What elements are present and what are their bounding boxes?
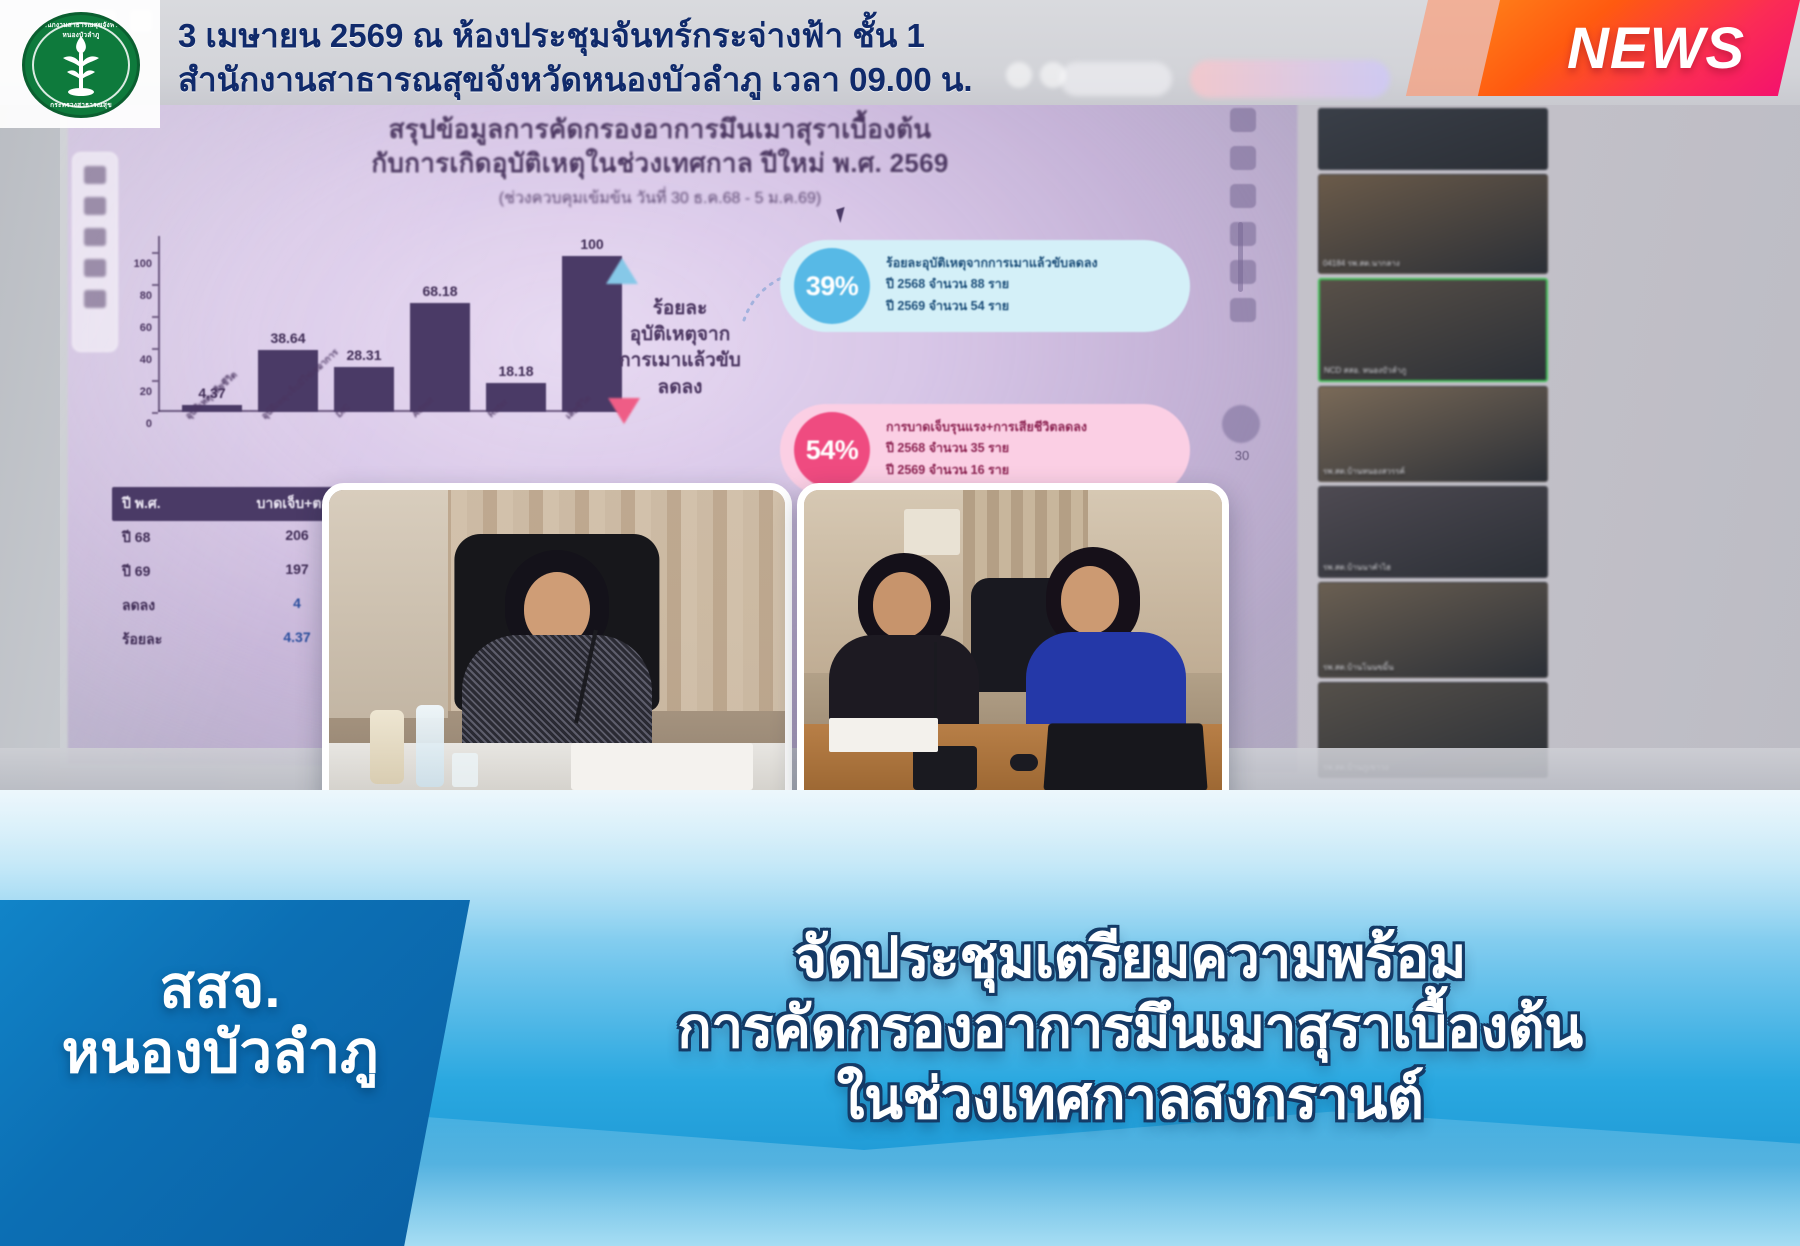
table-cell-label: ปี 69 [122, 561, 242, 583]
headline-line3: ในช่วงเทศกาลสงกรานต์ [470, 1065, 1790, 1133]
wall [329, 490, 448, 718]
person2-face [1061, 566, 1119, 634]
chart-y-tick-label: 0 [146, 418, 152, 430]
video-conference-tile-grid[interactable]: 04184 รพ.สต.นากลางNCD สสอ. หนองบัวลำภูรพ… [1318, 108, 1548, 758]
chart-y-axis [158, 236, 160, 412]
callout-percent-39: 39% [794, 248, 870, 324]
grid-icon[interactable] [1230, 260, 1256, 284]
chart-plot-area: 4.3738.6428.3168.1818.18100 [174, 236, 630, 412]
organization-name-line2: หนองบัวลำภู [0, 1021, 440, 1086]
arrow-up-blue-icon [606, 258, 638, 284]
slide-title-line3: (ช่วงควบคุมเข้มข้น วันที่ 30 ธ.ค.68 - 5 … [300, 186, 1020, 211]
headline: จัดประชุมเตรียมความพร้อม การคัดกรองอาการ… [470, 924, 1790, 1133]
organization-name-line1: สสจ. [0, 956, 440, 1021]
chart-bar-value-label: 100 [580, 236, 603, 252]
video-tile-caption: รพ.สต.บ้านนาคำไฮ [1323, 561, 1543, 574]
chart-y-tick-mark [152, 380, 158, 382]
video-tile-caption: NCD สสอ. หนองบัวลำภู [1324, 364, 1542, 377]
zoom-control-icon[interactable] [1222, 405, 1260, 443]
news-badge-label: NEWS [1536, 10, 1776, 86]
callout-row1-1: ปี 2568 จำนวน 88 ราย [886, 275, 1098, 294]
computer-mouse [1010, 754, 1038, 771]
photo-left-scene [329, 490, 785, 806]
caduceus-icon [53, 32, 109, 98]
callout-accidents-drunk-driving: 39% ร้อยละอุบัติเหตุจากการเมาแล้วขับลดลง… [780, 240, 1190, 332]
center-annotation-line3: การเมาแล้วขับ [590, 348, 770, 374]
chart-y-tick-mark [152, 316, 158, 318]
callout-percent-54: 54% [794, 412, 870, 488]
chart-y-tick-label: 80 [140, 290, 152, 302]
header-line2: สำนักงานสาธารณสุขจังหวัดหนองบัวลำภู เวลา… [178, 58, 1258, 102]
chart-x-tick-labels: อุบัติเหตุ-เสียชีวิตอุบัติเหตุ-เจ็บมีใช่… [174, 412, 630, 452]
drinking-glass [452, 753, 478, 787]
video-tile[interactable]: 04184 รพ.สต.นากลาง [1318, 174, 1548, 274]
text-select-icon[interactable] [84, 259, 106, 277]
shape-icon[interactable] [84, 290, 106, 308]
top-header-bar: สำนักงานสาธารณสุขจังหวัดหนองบัวลำภู กระท… [0, 0, 1800, 112]
callout-heading-1: ร้อยละอุบัติเหตุจากการเมาแล้วขับลดลง [886, 254, 1098, 273]
photo-card-staff [797, 483, 1229, 813]
chart-y-tick-mark [152, 284, 158, 286]
chart-y-tick-mark [152, 252, 158, 254]
chart-y-tick-label: 60 [140, 322, 152, 334]
tumbler [370, 710, 404, 784]
moph-provincial-health-office-logo: สำนักงานสาธารณสุขจังหวัดหนองบัวลำภู กระท… [22, 12, 140, 118]
organization-name: สสจ. หนองบัวลำภู [0, 956, 440, 1086]
video-tile[interactable]: NCD สสอ. หนองบัวลำภู [1318, 278, 1548, 382]
video-tile[interactable] [1318, 108, 1548, 170]
copy-icon[interactable] [1230, 222, 1256, 246]
table-cell-label: ลดลง [122, 595, 242, 617]
callout-row2-2: ปี 2569 จำนวน 16 ราย [886, 461, 1087, 480]
comment-icon[interactable] [1230, 184, 1256, 208]
chart-y-tick-label: 20 [140, 386, 152, 398]
callout-row2-1: ปี 2569 จำนวน 54 ราย [886, 297, 1098, 316]
logo-bottom-text: กระทรวงสาธารณสุข [25, 100, 137, 110]
video-tile[interactable]: รพ.สต.บ้านหนองสวรรค์ [1318, 386, 1548, 482]
headline-line2: การคัดกรองอาการมึนเมาสุราเบื้องต้น [470, 994, 1790, 1062]
slide-right-toolbar[interactable] [1222, 108, 1264, 328]
chart-y-tick-mark [152, 348, 158, 350]
documents [829, 718, 938, 753]
headline-line1: จัดประชุมเตรียมความพร้อม [470, 924, 1790, 992]
water-bottle [416, 705, 444, 787]
chart-y-tick-mark [152, 412, 158, 414]
callout-text-block-1: ร้อยละอุบัติเหตุจากการเมาแล้วขับลดลง ปี … [886, 254, 1098, 318]
chart-bar-value-label: 38.64 [270, 330, 305, 346]
zoom-level-value: 30 [1228, 448, 1256, 463]
magnifier-icon[interactable] [84, 166, 106, 184]
video-tile-caption: รพ.สต.บ้านหนองสวรรค์ [1323, 465, 1543, 478]
laptop [1044, 723, 1208, 790]
bar-chart: 020406080100 4.3738.6428.3168.1818.18100… [118, 222, 638, 452]
chart-bars: 4.3738.6428.3168.1818.18100 [174, 236, 630, 412]
callout-row1-2: ปี 2568 จำนวน 35 ราย [886, 439, 1087, 458]
documents [571, 743, 753, 790]
chart-bar-value-label: 28.31 [346, 347, 381, 363]
bookmark-icon[interactable] [1230, 298, 1256, 322]
video-tile[interactable]: รพ.สต.บ้านโนนขมิ้น [1318, 582, 1548, 678]
chart-y-tick-label: 40 [140, 354, 152, 366]
wall-panel [904, 509, 960, 555]
person1-face [873, 572, 931, 638]
chart-y-tick-label: 100 [134, 258, 152, 270]
video-tile[interactable]: รพ.สต.บ้านนาคำไฮ [1318, 486, 1548, 578]
video-tile-caption: รพ.สต.บ้านโนนขมิ้น [1323, 661, 1543, 674]
header-line1: 3 เมษายน 2569 ณ ห้องประชุมจันทร์กระจ่างฟ… [178, 14, 1258, 58]
microphone-base [913, 746, 977, 790]
pen-icon[interactable] [84, 197, 106, 215]
photo-right-scene [804, 490, 1222, 806]
callout-heading-2: การบาดเจ็บรุนแรง+การเสียชีวิตลดลง [886, 418, 1087, 437]
slide-title-block: สรุปข้อมูลการคัดกรองอาการมึนเมาสุราเบื้อ… [300, 112, 1020, 211]
eye-icon[interactable] [1230, 146, 1256, 170]
video-tile-caption: 04184 รพ.สต.นากลาง [1323, 257, 1543, 270]
callout-text-block-2: การบาดเจ็บรุนแรง+การเสียชีวิตลดลง ปี 256… [886, 418, 1087, 482]
news-card-canvas: 30 สรุปข้อมูลการคัดกรองอาการมึนเมาสุราเบ… [0, 0, 1800, 1246]
slide-scrollbar[interactable] [1238, 222, 1243, 292]
table-cell-label: ปี 68 [122, 527, 242, 549]
header-text-block: 3 เมษายน 2569 ณ ห้องประชุมจันทร์กระจ่างฟ… [178, 14, 1258, 102]
slide-left-toolbar[interactable] [72, 152, 118, 352]
chart-bar-value-label: 68.18 [422, 283, 457, 299]
table-header-year: ปี พ.ศ. [122, 493, 242, 515]
table-cell-label: ร้อยละ [122, 629, 242, 651]
center-annotation-line4: ลดลง [590, 375, 770, 401]
photo-card-chairperson [322, 483, 792, 813]
slide-title-line2: กับการเกิดอุบัติเหตุในช่วงเทศกาล ปีใหม่ … [300, 146, 1020, 180]
arrow-down-pink-icon [608, 398, 640, 424]
slide-title-line1: สรุปข้อมูลการคัดกรองอาการมึนเมาสุราเบื้อ… [300, 112, 1020, 146]
highlighter-icon[interactable] [84, 228, 106, 246]
